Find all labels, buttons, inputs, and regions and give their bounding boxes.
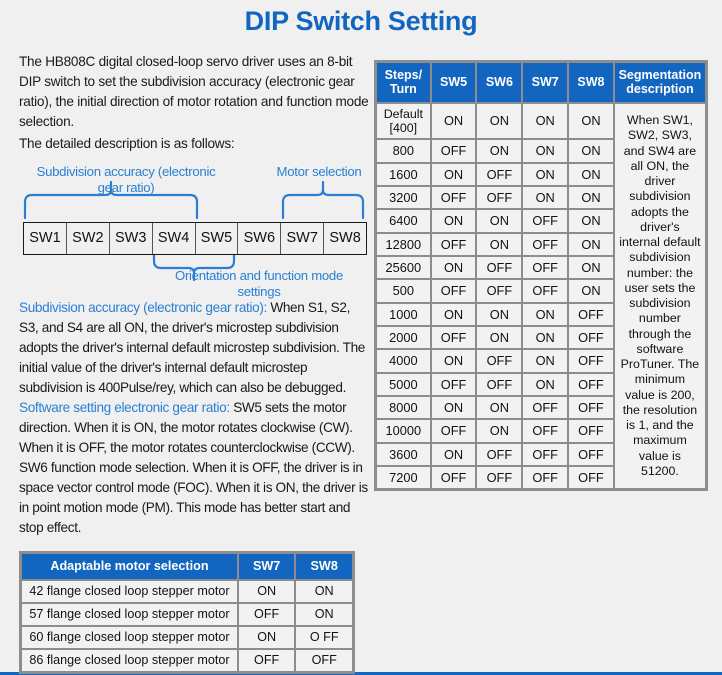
motor-cell-sw7: ON (239, 581, 294, 602)
motor-header-sw7: SW7 (239, 554, 294, 578)
dip-cell-sw8: ON (569, 210, 613, 231)
motor-cell-sw8: ON (296, 581, 352, 602)
dip-cell-sw5: ON (432, 304, 476, 325)
dip-cell-steps: 1600 (377, 164, 430, 185)
dip-cell-sw5: ON (432, 397, 476, 418)
dip-cell-sw5: OFF (432, 374, 476, 395)
segmentation-description-cell: When SW1, SW2, SW3, and SW4 are all ON, … (615, 104, 705, 489)
dip-header-seg-line1: Segmentation (619, 68, 702, 82)
dip-switch-diagram: Subdivision accuracy (electronic gear ra… (19, 164, 371, 296)
dip-cell-sw7: ON (523, 350, 567, 371)
left-column: The HB808C digital closed-loop servo dri… (19, 52, 371, 674)
dip-cell-steps: 25600 (377, 257, 430, 278)
dip-cell-sw8: ON (569, 140, 613, 161)
dip-table-head: Steps/ Turn SW5 SW6 SW7 SW8 Segmentation… (377, 63, 705, 102)
brace-subdivision-icon (23, 192, 199, 218)
dip-cell-sw8: ON (569, 104, 613, 139)
table-row: 57 flange closed loop stepper motorOFFON (22, 604, 352, 625)
dip-header-sw6: SW6 (477, 63, 521, 102)
dip-cell-sw7: OFF (523, 257, 567, 278)
dip-cell-sw6: ON (477, 210, 521, 231)
table-row: Default[400]ONONONONWhen SW1, SW2, SW3, … (377, 104, 705, 139)
dip-cell-steps: 800 (377, 140, 430, 161)
dip-cell-sw6: ON (477, 140, 521, 161)
dip-cell-sw6: OFF (477, 187, 521, 208)
dip-cell-sw6: OFF (477, 350, 521, 371)
motor-cell-name: 60 flange closed loop stepper motor (22, 627, 237, 648)
dip-cell-sw5: ON (432, 257, 476, 278)
dip-header-sw8: SW8 (569, 63, 613, 102)
subdivision-description: Subdivision accuracy (electronic gear ra… (19, 298, 371, 398)
motor-header-name: Adaptable motor selection (22, 554, 237, 578)
dip-header-steps-turn: Steps/ Turn (377, 63, 430, 102)
dip-cell-sw8: ON (569, 164, 613, 185)
dip-cell-sw7: OFF (523, 397, 567, 418)
dip-header-segmentation: Segmentation description (615, 63, 705, 102)
dip-switch-cell-sw6[interactable]: SW6 (238, 223, 281, 254)
dip-steps-table: Steps/ Turn SW5 SW6 SW7 SW8 Segmentation… (374, 60, 708, 491)
dip-cell-sw6: ON (477, 327, 521, 348)
intro-paragraph: The HB808C digital closed-loop servo dri… (19, 52, 371, 132)
dip-cell-sw8: ON (569, 234, 613, 255)
dip-switch-row: SW1SW2SW3SW4SW5SW6SW7SW8 (23, 222, 367, 255)
dip-cell-sw5: ON (432, 444, 476, 465)
page-title: DIP Switch Setting (0, 0, 722, 37)
dip-cell-sw8: ON (569, 187, 613, 208)
dip-cell-sw6: OFF (477, 257, 521, 278)
dip-cell-sw5: OFF (432, 280, 476, 301)
dip-table-body: Default[400]ONONONONWhen SW1, SW2, SW3, … (377, 104, 705, 489)
dip-cell-sw6: OFF (477, 444, 521, 465)
dip-cell-steps-line2: [400] (390, 121, 418, 135)
dip-cell-steps: 12800 (377, 234, 430, 255)
dip-cell-sw6: ON (477, 420, 521, 441)
motor-header-sw8: SW8 (296, 554, 352, 578)
dip-cell-steps: 1000 (377, 304, 430, 325)
table-row: 86 flange closed loop stepper motorOFFOF… (22, 650, 352, 671)
motor-table-header-row: Adaptable motor selection SW7 SW8 (22, 554, 352, 578)
brace-orientation-icon (152, 254, 236, 274)
dip-switch-cell-sw7[interactable]: SW7 (281, 223, 324, 254)
motor-table-body: 42 flange closed loop stepper motorONON5… (22, 581, 352, 671)
table-row: 60 flange closed loop stepper motorONO F… (22, 627, 352, 648)
dip-cell-sw8: OFF (569, 467, 613, 488)
intro-followup: The detailed description is as follows: (19, 134, 371, 154)
dip-cell-sw5: OFF (432, 234, 476, 255)
dip-cell-sw7: OFF (523, 280, 567, 301)
dip-cell-steps: 8000 (377, 397, 430, 418)
dip-cell-steps: 5000 (377, 374, 430, 395)
dip-header-sw5: SW5 (432, 63, 476, 102)
dip-cell-sw8: OFF (569, 350, 613, 371)
dip-switch-cell-sw2[interactable]: SW2 (67, 223, 110, 254)
subdivision-description-label: Subdivision accuracy (electronic gear ra… (19, 300, 267, 315)
dip-header-sw7: SW7 (523, 63, 567, 102)
dip-cell-sw5: ON (432, 350, 476, 371)
dip-cell-steps: 2000 (377, 327, 430, 348)
dip-cell-sw5: OFF (432, 467, 476, 488)
dip-cell-sw7: OFF (523, 420, 567, 441)
dip-switch-cell-sw1[interactable]: SW1 (24, 223, 67, 254)
dip-header-steps-line1: Steps/ (385, 68, 423, 82)
dip-cell-sw5: OFF (432, 327, 476, 348)
dip-cell-sw5: OFF (432, 187, 476, 208)
motor-cell-sw8: OFF (296, 650, 352, 671)
dip-cell-sw7: ON (523, 104, 567, 139)
motor-cell-sw8: O FF (296, 627, 352, 648)
dip-cell-sw7: ON (523, 304, 567, 325)
dip-switch-cell-sw8[interactable]: SW8 (324, 223, 366, 254)
dip-cell-sw6: OFF (477, 467, 521, 488)
dip-table-header-row: Steps/ Turn SW5 SW6 SW7 SW8 Segmentation… (377, 63, 705, 102)
dip-cell-steps: Default[400] (377, 104, 430, 139)
dip-cell-sw6: ON (477, 397, 521, 418)
dip-cell-sw6: OFF (477, 164, 521, 185)
table-row: 42 flange closed loop stepper motorONON (22, 581, 352, 602)
software-gear-ratio-description: Software setting electronic gear ratio: … (19, 398, 371, 538)
dip-switch-cell-sw4[interactable]: SW4 (153, 223, 196, 254)
motor-table-wrapper: Adaptable motor selection SW7 SW8 42 fla… (19, 551, 371, 674)
dip-cell-sw6: OFF (477, 374, 521, 395)
dip-cell-sw6: ON (477, 304, 521, 325)
dip-cell-sw7: ON (523, 164, 567, 185)
page-root: DIP Switch Setting The HB808C digital cl… (0, 0, 722, 675)
dip-cell-steps: 3200 (377, 187, 430, 208)
motor-cell-sw7: OFF (239, 650, 294, 671)
dip-cell-sw8: OFF (569, 374, 613, 395)
dip-cell-sw5: ON (432, 104, 476, 139)
dip-cell-steps: 6400 (377, 210, 430, 231)
dip-cell-sw5: OFF (432, 140, 476, 161)
dip-cell-sw7: ON (523, 140, 567, 161)
dip-cell-steps: 3600 (377, 444, 430, 465)
dip-cell-steps: 4000 (377, 350, 430, 371)
dip-cell-sw7: OFF (523, 210, 567, 231)
dip-header-steps-line2: Turn (390, 82, 417, 96)
dip-cell-sw6: OFF (477, 280, 521, 301)
dip-cell-sw6: ON (477, 234, 521, 255)
motor-table-head: Adaptable motor selection SW7 SW8 (22, 554, 352, 578)
motor-cell-name: 42 flange closed loop stepper motor (22, 581, 237, 602)
dip-header-seg-line2: description (626, 82, 693, 96)
dip-cell-sw5: OFF (432, 420, 476, 441)
dip-cell-sw7: ON (523, 327, 567, 348)
dip-cell-sw7: ON (523, 374, 567, 395)
motor-cell-sw7: OFF (239, 604, 294, 625)
caption-motor-selection: Motor selection (271, 164, 367, 180)
software-gear-ratio-text: SW5 sets the motor direction. When it is… (19, 400, 368, 535)
dip-switch-cell-sw5[interactable]: SW5 (196, 223, 239, 254)
dip-cell-steps: 10000 (377, 420, 430, 441)
motor-cell-sw8: ON (296, 604, 352, 625)
dip-cell-sw8: ON (569, 257, 613, 278)
dip-cell-sw8: OFF (569, 444, 613, 465)
dip-cell-steps-line1: Default (384, 107, 423, 121)
dip-cell-sw8: OFF (569, 304, 613, 325)
dip-cell-sw8: ON (569, 280, 613, 301)
dip-cell-steps: 500 (377, 280, 430, 301)
software-gear-ratio-label: Software setting electronic gear ratio: (19, 400, 230, 415)
motor-cell-sw7: ON (239, 627, 294, 648)
dip-cell-sw5: ON (432, 210, 476, 231)
dip-cell-sw7: OFF (523, 467, 567, 488)
dip-cell-sw5: ON (432, 164, 476, 185)
dip-cell-sw6: ON (477, 104, 521, 139)
dip-switch-cell-sw3[interactable]: SW3 (110, 223, 153, 254)
dip-cell-sw8: OFF (569, 327, 613, 348)
dip-cell-sw7: ON (523, 187, 567, 208)
dip-cell-sw7: OFF (523, 234, 567, 255)
dip-cell-sw8: OFF (569, 420, 613, 441)
adaptable-motor-table: Adaptable motor selection SW7 SW8 42 fla… (19, 551, 355, 674)
dip-cell-sw8: OFF (569, 397, 613, 418)
dip-cell-steps: 7200 (377, 467, 430, 488)
dip-cell-sw7: OFF (523, 444, 567, 465)
brace-motor-icon (281, 192, 365, 218)
motor-cell-name: 57 flange closed loop stepper motor (22, 604, 237, 625)
right-column: Steps/ Turn SW5 SW6 SW7 SW8 Segmentation… (374, 60, 708, 491)
motor-cell-name: 86 flange closed loop stepper motor (22, 650, 237, 671)
